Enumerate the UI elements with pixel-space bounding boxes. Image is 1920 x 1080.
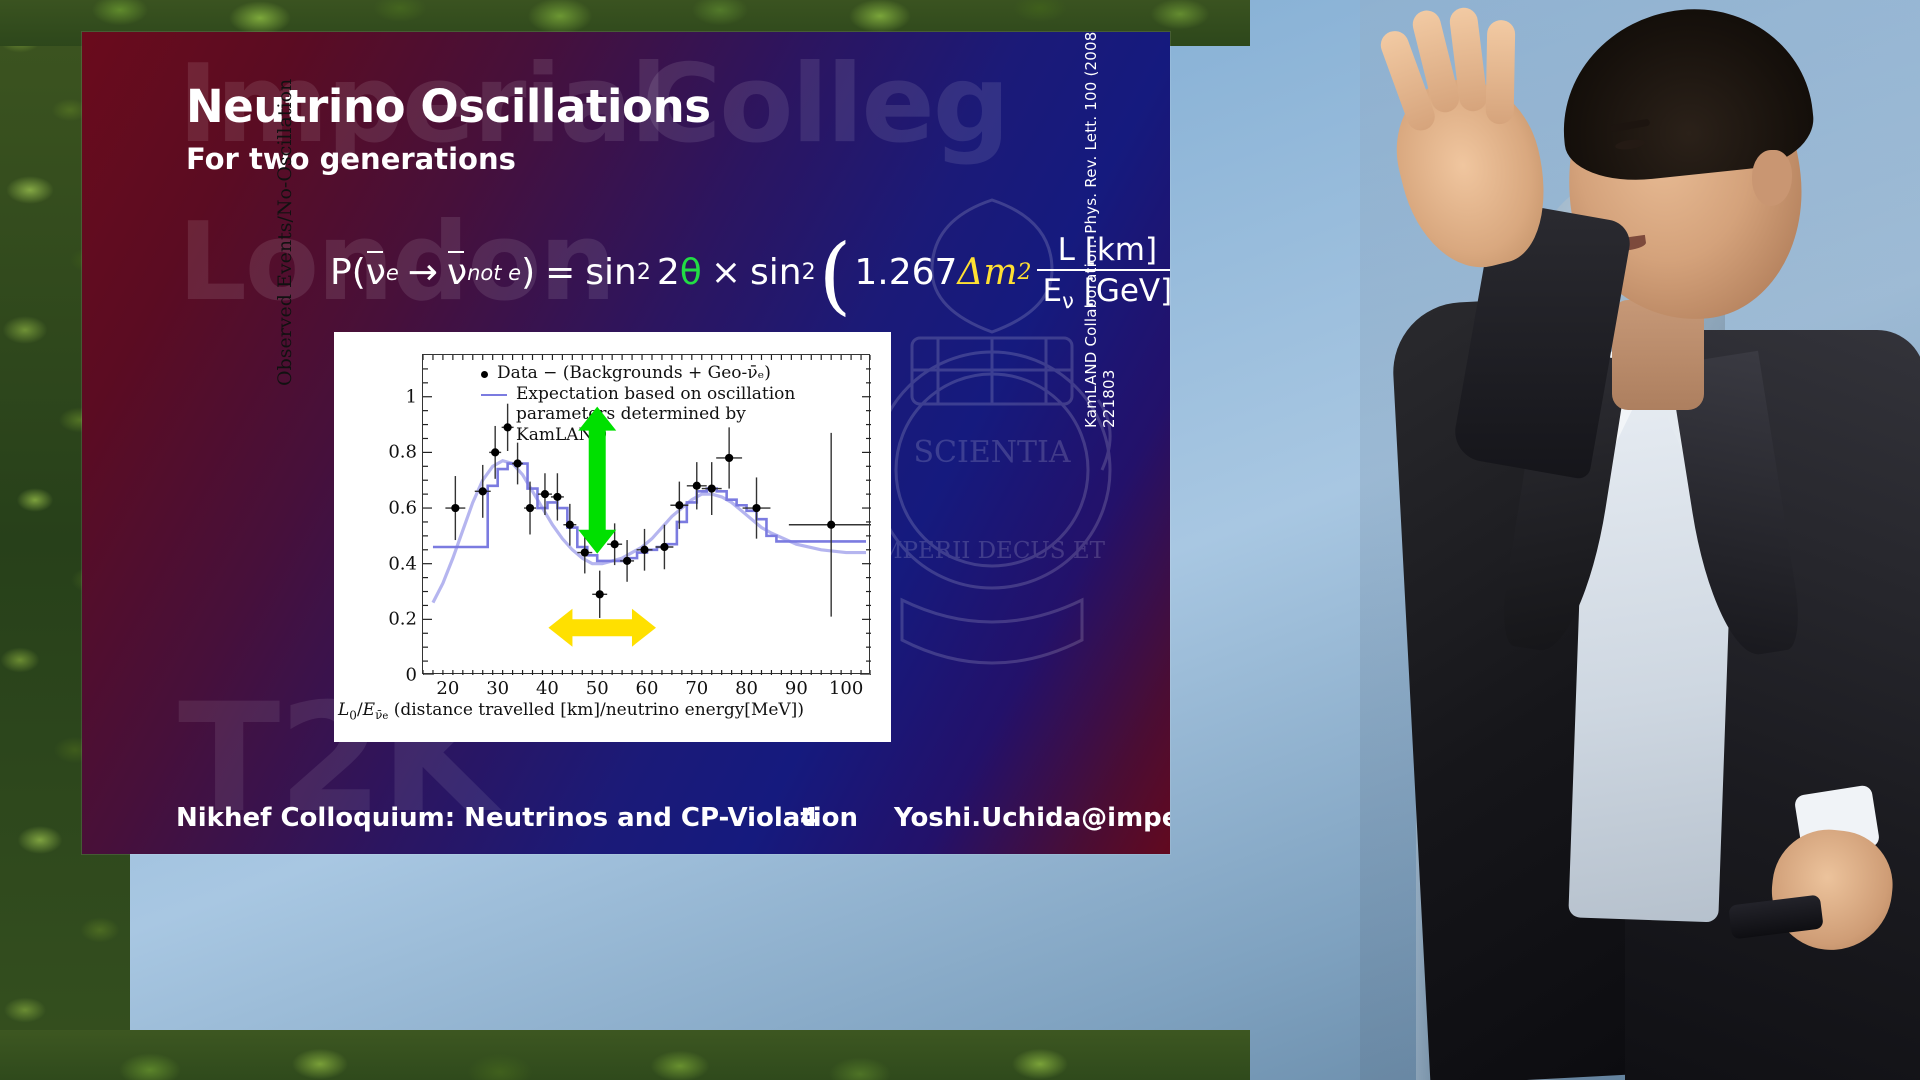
chart-x-tick-label: 90 [785, 678, 808, 699]
formula-den-E: E [1043, 273, 1063, 309]
chart-y-tick-label: 0.4 [388, 553, 417, 574]
figure-citation: KamLAND Collaboration: Phys. Rev. Lett. … [1082, 32, 1118, 428]
formula-nu2-sub: not e [467, 261, 521, 285]
presenter-figure [1400, 0, 1920, 1080]
chart-y-axis-label: Observed Events/No-Oscillation [274, 79, 296, 386]
presentation-slide: Imperial Colleg London T2K SCIENTIA MPER… [82, 32, 1170, 854]
slide-subtitle: For two generations [186, 142, 516, 176]
citation-line1: KamLAND Collaboration: Phys. Rev. Lett. … [1082, 32, 1100, 428]
svg-text:MPERII DECUS ET: MPERII DECUS ET [879, 538, 1106, 564]
chart-y-tick-label: 0 [406, 665, 417, 686]
chart-x-tick-label: 50 [586, 678, 609, 699]
formula-sin2-exponent: 2 [802, 260, 816, 285]
chart-x-tick-label: 70 [685, 678, 708, 699]
svg-text:SCIENTIA: SCIENTIA [913, 435, 1070, 470]
formula-sin1-exponent: 2 [637, 260, 651, 285]
footer-email: Yoshi.Uchida@imperial.ac.uk [894, 803, 1170, 833]
formula-nu1: ν [366, 252, 386, 293]
chart-y-tick-label: 0.2 [388, 609, 417, 630]
formula-arrow: → [408, 252, 438, 293]
footer-talk-title: Nikhef Colloquium: Neutrinos and CP-Viol… [176, 803, 858, 833]
formula-den-nu-sub: ν [1062, 289, 1074, 313]
formula-nu2: ν [447, 252, 467, 293]
formula-p-close: ) [521, 252, 535, 293]
formula-sin1: sin [585, 252, 637, 293]
chart-x-axis-label: L0/Eν̄e (distance travelled [km]/neutrin… [338, 700, 804, 722]
formula-p-open: P( [330, 252, 366, 293]
formula-sin2: sin [750, 252, 802, 293]
chart-x-axis-label-text: (distance travelled [km]/neutrino energy… [394, 700, 804, 720]
chart-y-tick-label: 0.8 [388, 442, 417, 463]
footer-page-number: 4 [800, 803, 818, 833]
formula-coefficient: 1.267 [854, 252, 957, 293]
formula-delta-m-exponent: 2 [1018, 260, 1032, 285]
citation-line2: 221803 [1100, 32, 1118, 428]
formula-two: 2 [657, 252, 680, 293]
chart-x-tick-label: 80 [735, 678, 758, 699]
foliage-bottom [0, 1030, 1250, 1080]
chart-x-tick-label: 60 [636, 678, 659, 699]
slide-title: Neutrino Oscillations [186, 80, 711, 133]
oscillation-probability-formula: P( νe → νnot e ) = sin2 2θ × sin2 ( 1.26… [330, 232, 1170, 313]
chart-y-tick-label: 0.6 [388, 498, 417, 519]
slide-footer: Nikhef Colloquium: Neutrinos and CP-Viol… [82, 782, 1170, 854]
chart-y-tick-label: 1 [406, 386, 417, 407]
formula-times: × [711, 252, 741, 293]
chart-plot-area: Data − (Backgrounds + Geo-ν̄ₑ) Expectati… [422, 354, 870, 674]
formula-nu-e-bar: ν [366, 252, 386, 293]
presenter-finger-4 [1486, 20, 1516, 124]
formula-nu1-sub: e [386, 261, 399, 285]
chart-x-tick-label: 100 [829, 678, 863, 699]
formula-equals: = [545, 252, 575, 293]
formula-theta: θ [680, 252, 702, 293]
kamland-oscillation-figure: Observed Events/No-Oscillation Data − (B… [334, 332, 891, 742]
chart-x-tick-label: 30 [486, 678, 509, 699]
formula-delta-m: Δm [957, 252, 1017, 293]
formula-nu-notE-bar: ν [447, 252, 467, 293]
chart-canvas [423, 355, 871, 675]
chart-x-tick-label: 20 [436, 678, 459, 699]
chart-x-tick-label: 40 [536, 678, 559, 699]
